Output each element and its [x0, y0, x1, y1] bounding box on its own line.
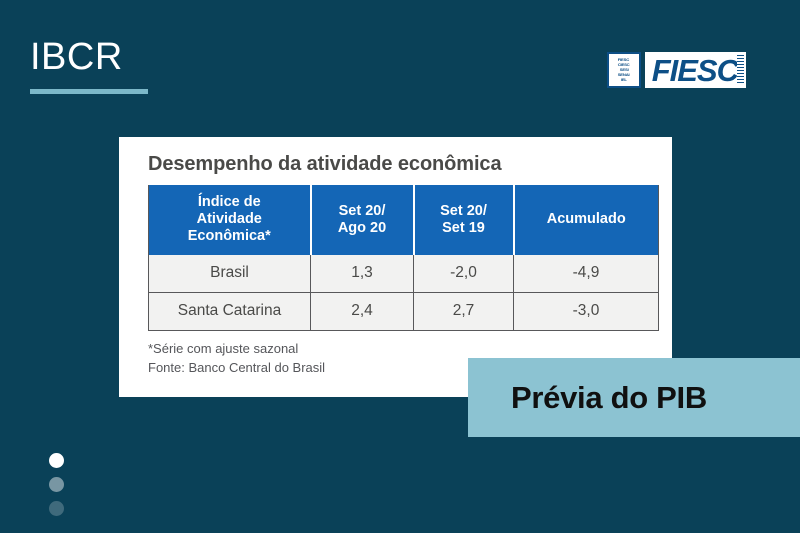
cell-brasil-set20-ago20: 1,3	[311, 255, 414, 293]
fiesc-logo: FIESC CIESC SESI SENAI IEL FIESC	[607, 52, 746, 88]
table-row: Brasil 1,3 -2,0 -4,9	[149, 255, 659, 293]
column-header-index-line3: Econômica*	[188, 228, 271, 244]
dot-icon-2	[49, 477, 64, 492]
cell-brasil-set20-set19: -2,0	[414, 255, 514, 293]
dot-icon-3	[49, 501, 64, 516]
column-header-set20-ago20: Set 20/ Ago 20	[311, 185, 414, 255]
column-header-set20-ago20-line1: Set 20/	[339, 203, 386, 219]
fiesc-logo-mark-icon: FIESC CIESC SESI SENAI IEL	[607, 52, 641, 88]
fiesc-wordmark: FIESC	[652, 55, 738, 86]
column-header-set20-set19-line1: Set 20/	[440, 203, 487, 219]
slide-root: IBCR FIESC CIESC SESI SENAI IEL FIESC De…	[0, 0, 800, 533]
cell-sc-set20-ago20: 2,4	[311, 293, 414, 331]
footnote-seasonal-adjustment: *Série com ajuste sazonal	[148, 340, 652, 359]
page-title: IBCR	[30, 38, 330, 78]
slide-header: IBCR	[30, 38, 330, 94]
column-header-index-line1: Índice de	[198, 194, 261, 210]
logo-stripes-icon	[737, 55, 744, 85]
title-underline-rule	[30, 89, 148, 94]
row-label-brasil: Brasil	[149, 255, 311, 293]
column-header-set20-set19: Set 20/ Set 19	[414, 185, 514, 255]
banner-label: Prévia do PIB	[511, 382, 707, 413]
table-header-row: Índice de Atividade Econômica* Set 20/ A…	[149, 185, 659, 255]
cell-brasil-acumulado: -4,9	[514, 255, 659, 293]
row-label-santa-catarina: Santa Catarina	[149, 293, 311, 331]
column-header-set20-set19-line2: Set 19	[442, 220, 485, 236]
column-header-index: Índice de Atividade Econômica*	[149, 185, 311, 255]
decorative-dots	[49, 453, 64, 516]
table-body: Brasil 1,3 -2,0 -4,9 Santa Catarina 2,4 …	[149, 255, 659, 331]
table-header: Índice de Atividade Econômica* Set 20/ A…	[149, 185, 659, 255]
column-header-acumulado: Acumulado	[514, 185, 659, 255]
dot-icon-1	[49, 453, 64, 468]
cell-sc-acumulado: -3,0	[514, 293, 659, 331]
previa-pib-banner: Prévia do PIB	[468, 358, 800, 437]
card-title: Desempenho da atividade econômica	[148, 153, 652, 176]
column-header-index-line2: Atividade	[197, 211, 262, 227]
logo-entity-4: IEL	[621, 78, 627, 82]
economic-activity-table: Índice de Atividade Econômica* Set 20/ A…	[148, 185, 659, 331]
cell-sc-set20-set19: 2,7	[414, 293, 514, 331]
fiesc-logo-wordmark-box: FIESC	[645, 52, 746, 88]
table-row: Santa Catarina 2,4 2,7 -3,0	[149, 293, 659, 331]
column-header-set20-ago20-line2: Ago 20	[338, 220, 386, 236]
